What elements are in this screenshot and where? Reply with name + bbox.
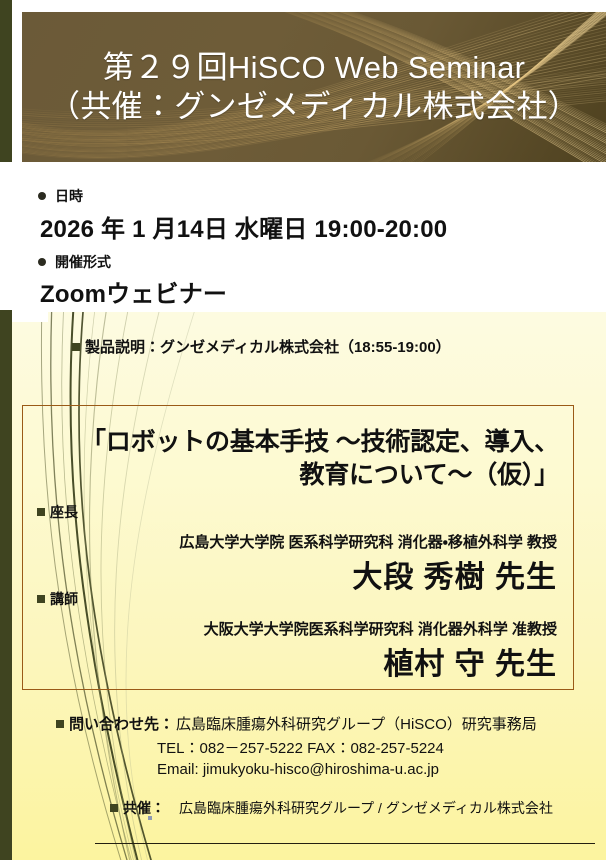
- dot-bullet-icon: [38, 258, 46, 266]
- chair-affiliation: 広島大学大学院 医系科学研究科 消化器・移植外科学 教授: [23, 531, 557, 552]
- header-title-line2: （共催：グンゼメディカル株式会社）: [49, 88, 579, 126]
- lecturer-block: 講師 大阪大学大学院医系科学研究科 消化器外科学 准教授 植村 守 先生: [23, 589, 573, 683]
- body-panel: 製品説明：グンゼメディカル株式会社（18:55-19:00） 「ロボットの基本手…: [12, 310, 606, 860]
- speck-mark: [148, 816, 152, 820]
- seminar-poster: 第２９回HiSCO Web Seminar （共催：グンゼメディカル株式会社） …: [0, 0, 606, 860]
- datetime-label-row: 日時: [38, 186, 606, 206]
- header-banner: 第２９回HiSCO Web Seminar （共催：グンゼメディカル株式会社）: [22, 12, 606, 162]
- product-description-text: 製品説明：グンゼメディカル株式会社（18:55-19:00）: [85, 339, 451, 356]
- dot-bullet-icon: [38, 192, 46, 200]
- header-title-line1: 第２９回HiSCO Web Seminar: [103, 49, 526, 87]
- lecturer-name: 植村 守 先生: [23, 639, 557, 683]
- cosponsor-row: 共催：広島臨床腫瘍外科研究グループ / グンゼメディカル株式会社: [110, 798, 553, 818]
- square-bullet-icon: [37, 595, 45, 603]
- lecturer-role-row: 講師: [37, 589, 573, 609]
- product-description-row: 製品説明：グンゼメディカル株式会社（18:55-19:00）: [72, 336, 451, 357]
- contact-head-row: 問い合わせ先：広島臨床腫瘍外科研究グループ（HiSCO）研究事務局: [56, 713, 537, 734]
- bottom-divider: [95, 843, 595, 844]
- contact-block: 問い合わせ先：広島臨床腫瘍外科研究グループ（HiSCO）研究事務局 TEL：08…: [56, 713, 537, 778]
- square-bullet-icon: [37, 508, 45, 516]
- lecture-title-line1: 「ロボットの基本手技 ～技術認定、導入、: [37, 426, 559, 459]
- contact-office: 広島臨床腫瘍外科研究グループ（HiSCO）研究事務局: [176, 716, 537, 733]
- contact-tel-fax: TEL：082－257-5222 FAX：082-257-5224: [157, 737, 537, 758]
- square-bullet-icon: [56, 720, 64, 728]
- lecture-box: 「ロボットの基本手技 ～技術認定、導入、 教育について～（仮）」 座長 広島大学…: [22, 405, 574, 690]
- left-accent-bar-top: [0, 0, 12, 162]
- cosponsor-label: 共催：: [123, 800, 165, 816]
- lecture-title: 「ロボットの基本手技 ～技術認定、導入、 教育について～（仮）」: [37, 426, 559, 492]
- contact-email[interactable]: Email: jimukyoku-hisco@hiroshima-u.ac.jp: [157, 761, 537, 778]
- square-bullet-icon: [110, 804, 118, 812]
- cosponsor-organizations: 広島臨床腫瘍外科研究グループ / グンゼメディカル株式会社: [179, 800, 553, 816]
- square-bullet-icon: [72, 343, 80, 351]
- left-accent-bar-bottom: [0, 310, 12, 860]
- format-label-row: 開催形式: [38, 252, 606, 272]
- lecture-title-line2: 教育について～（仮）」: [37, 459, 559, 492]
- chair-role-label: 座長: [50, 504, 78, 520]
- lecturer-affiliation: 大阪大学大学院医系科学研究科 消化器外科学 准教授: [23, 618, 557, 639]
- event-info-block: 日時 2026 年 1 月14日 水曜日 19:00-20:00 開催形式 Zo…: [12, 170, 606, 312]
- chair-block: 座長 広島大学大学院 医系科学研究科 消化器・移植外科学 教授 大段 秀樹 先生: [23, 502, 573, 596]
- datetime-value: 2026 年 1 月14日 水曜日 19:00-20:00: [40, 209, 606, 244]
- format-label: 開催形式: [55, 252, 111, 272]
- chair-role-row: 座長: [37, 502, 573, 522]
- lecturer-role-label: 講師: [50, 591, 78, 607]
- contact-label: 問い合わせ先：: [69, 716, 174, 733]
- format-value: Zoomウェビナー: [40, 274, 606, 309]
- datetime-label: 日時: [55, 186, 83, 206]
